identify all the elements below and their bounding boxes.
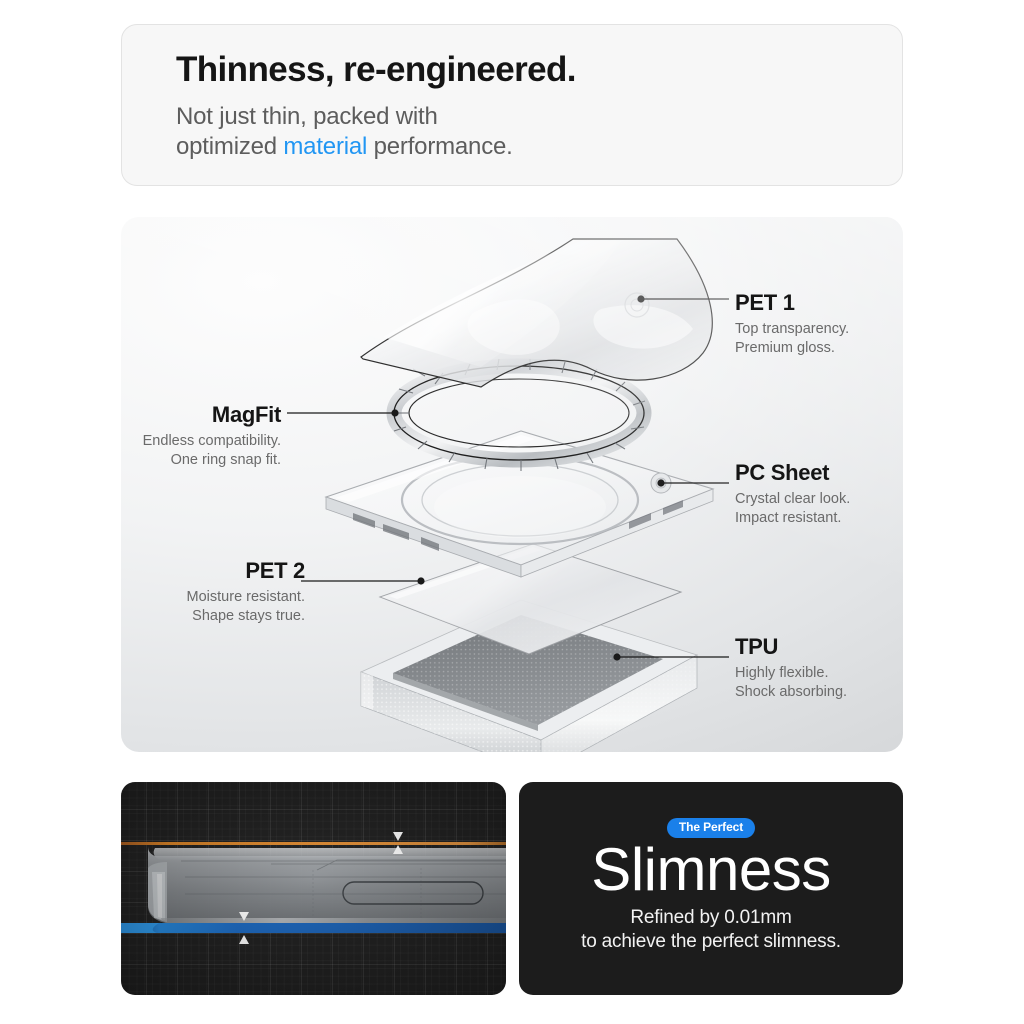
callout-magfit-desc-1: Endless compatibility.	[121, 432, 281, 451]
slimness-subtitle: Refined by 0.01mm to achieve the perfect…	[519, 906, 903, 953]
slimness-sub-line-1: Refined by 0.01mm	[630, 907, 791, 928]
page-subtitle: Not just thin, packed with optimized mat…	[176, 102, 902, 163]
callout-pet2-desc-1: Moisture resistant.	[121, 588, 305, 607]
callout-pet2: PET 2 Moisture resistant. Shape stays tr…	[121, 559, 305, 626]
slimness-badge: The Perfect	[667, 818, 755, 838]
callout-pc-sheet-desc-2: Impact resistant.	[735, 509, 850, 528]
callout-tpu-desc-1: Highly flexible.	[735, 664, 847, 683]
callout-tpu-title: TPU	[735, 635, 847, 659]
callout-tpu-desc-2: Shock absorbing.	[735, 683, 847, 702]
callout-pc-sheet-desc-1: Crystal clear look.	[735, 490, 850, 509]
infographic-page: Thinness, re-engineered. Not just thin, …	[0, 0, 1024, 1024]
subtitle-line-2-post: performance.	[367, 133, 512, 160]
callout-magfit: MagFit Endless compatibility. One ring s…	[121, 403, 281, 470]
exploded-diagram-panel: PET 1 Top transparency. Premium gloss. M…	[121, 217, 903, 752]
subtitle-line-1: Not just thin, packed with	[176, 103, 438, 130]
callout-pet1-desc-1: Top transparency.	[735, 320, 849, 339]
callout-magfit-desc-2: One ring snap fit.	[121, 451, 281, 470]
callout-pet1: PET 1 Top transparency. Premium gloss.	[735, 291, 849, 358]
callout-pet1-title: PET 1	[735, 291, 849, 315]
callout-pc-sheet: PC Sheet Crystal clear look. Impact resi…	[735, 461, 850, 528]
subtitle-accent-word: material	[283, 133, 367, 160]
header-card: Thinness, re-engineered. Not just thin, …	[121, 24, 903, 186]
slimness-title: Slimness	[519, 840, 903, 900]
panel-vignette	[121, 782, 506, 995]
slimness-panel: The Perfect Slimness Refined by 0.01mm t…	[519, 782, 903, 995]
callout-pc-sheet-title: PC Sheet	[735, 461, 850, 485]
callout-pet2-desc-2: Shape stays true.	[121, 607, 305, 626]
page-title: Thinness, re-engineered.	[176, 51, 902, 90]
callout-tpu: TPU Highly flexible. Shock absorbing.	[735, 635, 847, 702]
cross-section-panel	[121, 782, 506, 995]
callout-magfit-title: MagFit	[121, 403, 281, 427]
subtitle-line-2-pre: optimized	[176, 133, 283, 160]
callout-pet2-title: PET 2	[121, 559, 305, 583]
callout-pet1-desc-2: Premium gloss.	[735, 339, 849, 358]
slimness-sub-line-2: to achieve the perfect slimness.	[581, 931, 841, 952]
